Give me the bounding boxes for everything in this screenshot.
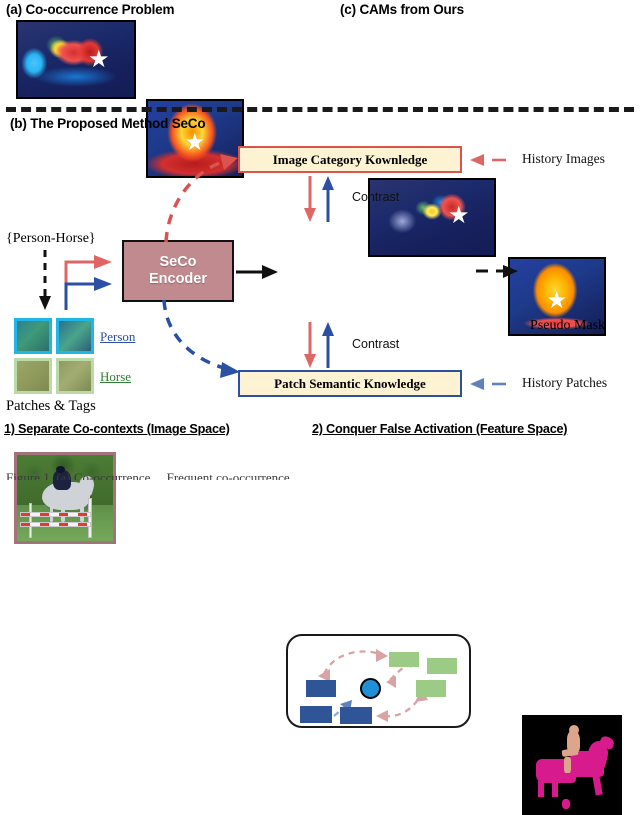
patch-person-2 <box>56 318 94 354</box>
mask-person-leg <box>564 757 571 773</box>
feature-space-box <box>286 634 471 728</box>
mask-horse-leg <box>592 775 602 796</box>
arrow-history-images <box>470 152 514 168</box>
arrow-image-to-patches <box>36 250 58 314</box>
panel-b-title: (b) The Proposed Method SeCo <box>10 116 205 131</box>
panel-a-title: (a) Co-occurrence Problem <box>6 2 174 17</box>
history-patches-label: History Patches <box>522 375 607 391</box>
contrast-label-bottom: Contrast <box>352 337 399 351</box>
encoder-line-1: SeCo <box>159 254 196 271</box>
photo-jump-post <box>29 503 33 537</box>
star-marker-icon: ★ <box>88 48 110 72</box>
contrast-arrows-bottom <box>300 322 344 370</box>
feature-item-green <box>427 658 457 674</box>
pseudo-mask-image <box>522 715 622 815</box>
star-marker-icon: ★ <box>546 289 568 313</box>
feature-item-blue <box>340 707 372 724</box>
seco-encoder-box: SeCo Encoder <box>122 240 234 302</box>
image-category-knowledge-box: Image Category Kownledge <box>238 146 462 173</box>
figure-caption-clipped: Figure 1. (a) Co-occurrence ... Frequent… <box>6 470 634 480</box>
feature-item-blue <box>306 680 336 697</box>
anchor-feature-icon <box>360 678 381 699</box>
arrow-image-to-encoder <box>60 248 118 310</box>
photo-jump-rail <box>20 512 91 517</box>
panel-c-title: (c) CAMs from Ours <box>340 2 464 17</box>
section-divider <box>6 107 634 112</box>
star-marker-icon: ★ <box>448 204 470 228</box>
input-image-tag: {Person-Horse} <box>6 231 96 247</box>
mask-person-head <box>569 725 579 735</box>
input-image-equestrian <box>14 452 116 544</box>
encoder-line-2: Encoder <box>149 271 207 288</box>
arrow-encoder-to-feature-space <box>236 261 282 283</box>
feature-item-blue <box>300 706 332 723</box>
patch-horse-2 <box>56 358 94 394</box>
feature-item-green <box>416 680 446 697</box>
mask-horse-hoof <box>562 799 570 809</box>
patch-tag-person: Person <box>100 329 135 345</box>
cam-horse-baseline: ★ <box>16 20 136 99</box>
feature-item-green <box>389 652 419 667</box>
mask-horse-leg <box>538 781 544 797</box>
contrast-label-top: Contrast <box>352 190 399 204</box>
arrow-encoder-to-image-knowledge <box>160 150 240 246</box>
patch-person-1 <box>14 318 52 354</box>
bottom-caption-right: 2) Conquer False Activation (Feature Spa… <box>312 422 567 436</box>
history-images-label: History Images <box>522 151 605 167</box>
arrow-history-patches <box>470 376 514 392</box>
photo-jump-post <box>88 498 92 538</box>
patch-semantic-knowledge-box: Patch Semantic Knowledge <box>238 370 462 397</box>
arrow-encoder-to-patch-knowledge <box>160 300 246 378</box>
photo-jump-rail <box>20 522 91 527</box>
patch-tag-horse: Horse <box>100 369 131 385</box>
patch-horse-1 <box>14 358 52 394</box>
pseudo-mask-caption: Pseudo Mask <box>530 318 605 334</box>
patches-caption: Patches & Tags <box>6 398 96 415</box>
arrow-feature-space-to-mask <box>476 262 520 280</box>
mask-horse-leg <box>552 781 558 797</box>
bottom-caption-left: 1) Separate Co-contexts (Image Space) <box>4 422 230 436</box>
contrast-arrows-top <box>300 176 344 224</box>
